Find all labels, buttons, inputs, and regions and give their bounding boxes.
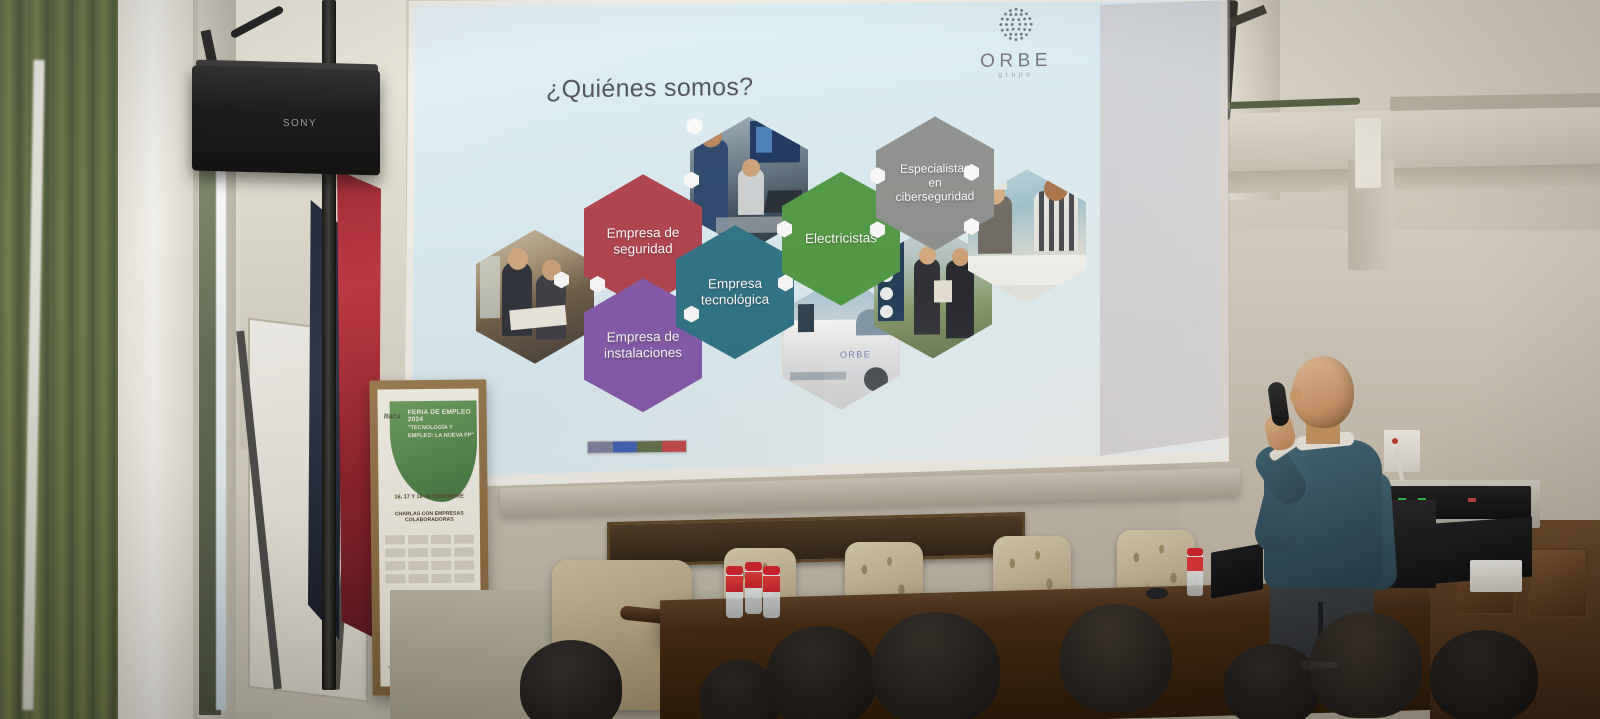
water-bottle — [763, 566, 780, 618]
photo-hex-office-meeting — [476, 229, 594, 365]
audience-head — [1060, 604, 1172, 712]
presenter-ear — [1290, 388, 1302, 405]
slide-color-bar — [587, 440, 687, 454]
sponsor-logo — [408, 535, 428, 544]
sponsor-logo — [431, 574, 451, 583]
sponsor-logo — [385, 548, 405, 557]
presentation-slide: ORBE grupo ¿Quiénes somos? — [412, 0, 1224, 497]
hexagon-cluster: ORBE — [412, 0, 1224, 497]
water-bottle — [726, 566, 743, 618]
conference-room-scene: SONY — [0, 0, 1600, 719]
poster-heading: FERIA DE EMPLEO 2024 — [408, 409, 476, 424]
hex-connector-icon — [687, 118, 702, 135]
sponsor-logo — [408, 574, 428, 583]
cable-tray-icon — [1355, 118, 1381, 189]
computer-mouse — [1146, 588, 1168, 599]
sponsor-logo — [408, 548, 428, 557]
sponsor-logo — [431, 535, 451, 544]
hex-label: Empresatecnológica — [695, 276, 775, 308]
sponsor-logo — [431, 548, 451, 557]
water-bottle-group — [726, 560, 782, 618]
sponsor-logo — [385, 535, 405, 544]
poster-brand: Itaca — [384, 411, 401, 420]
hex-label: Empresa deinstalaciones — [598, 329, 688, 361]
rack-led-indicator — [1468, 498, 1476, 502]
sponsor-logo — [454, 535, 474, 544]
audience-head — [1430, 630, 1538, 719]
sponsor-logo — [431, 561, 451, 570]
eyeglasses-icon — [1300, 660, 1340, 670]
color-swatch-3 — [637, 441, 662, 452]
water-bottle — [1187, 548, 1203, 596]
door-light-strip — [216, 120, 226, 710]
cabinet-panel — [1528, 548, 1588, 618]
wall-column — [118, 0, 198, 719]
speaker-brand-label: SONY — [265, 118, 335, 129]
window-curtain-inner — [52, 0, 120, 719]
sponsor-logo — [385, 574, 405, 583]
poster-subheading: "TECNOLOGÍA Y EMPLEO: LA NUEVA FP" — [408, 425, 475, 441]
poster-dates: 16, 17 Y 18 de DICIEMBRE — [379, 493, 480, 500]
sponsor-logo — [385, 561, 405, 570]
water-bottle — [745, 562, 762, 614]
projection-screen: ORBE grupo ¿Quiénes somos? — [412, 0, 1224, 488]
audience-head — [1224, 644, 1320, 719]
white-equipment-box — [1470, 560, 1522, 592]
audience-head — [872, 612, 1000, 719]
poster-footer-line: CHARLAS CON EMPRESAS COLABORADORAS — [379, 510, 480, 523]
color-swatch-4 — [662, 441, 687, 452]
audience-head — [766, 626, 876, 719]
sponsor-logo — [454, 548, 474, 557]
color-swatch-1 — [588, 442, 613, 453]
sponsor-logo — [408, 561, 428, 570]
color-swatch-2 — [613, 441, 638, 452]
sponsor-logo — [454, 561, 474, 570]
sponsor-logo — [454, 574, 474, 583]
poster-sponsor-logos — [385, 535, 474, 584]
hex-label: Empresa deseguridad — [601, 225, 686, 257]
